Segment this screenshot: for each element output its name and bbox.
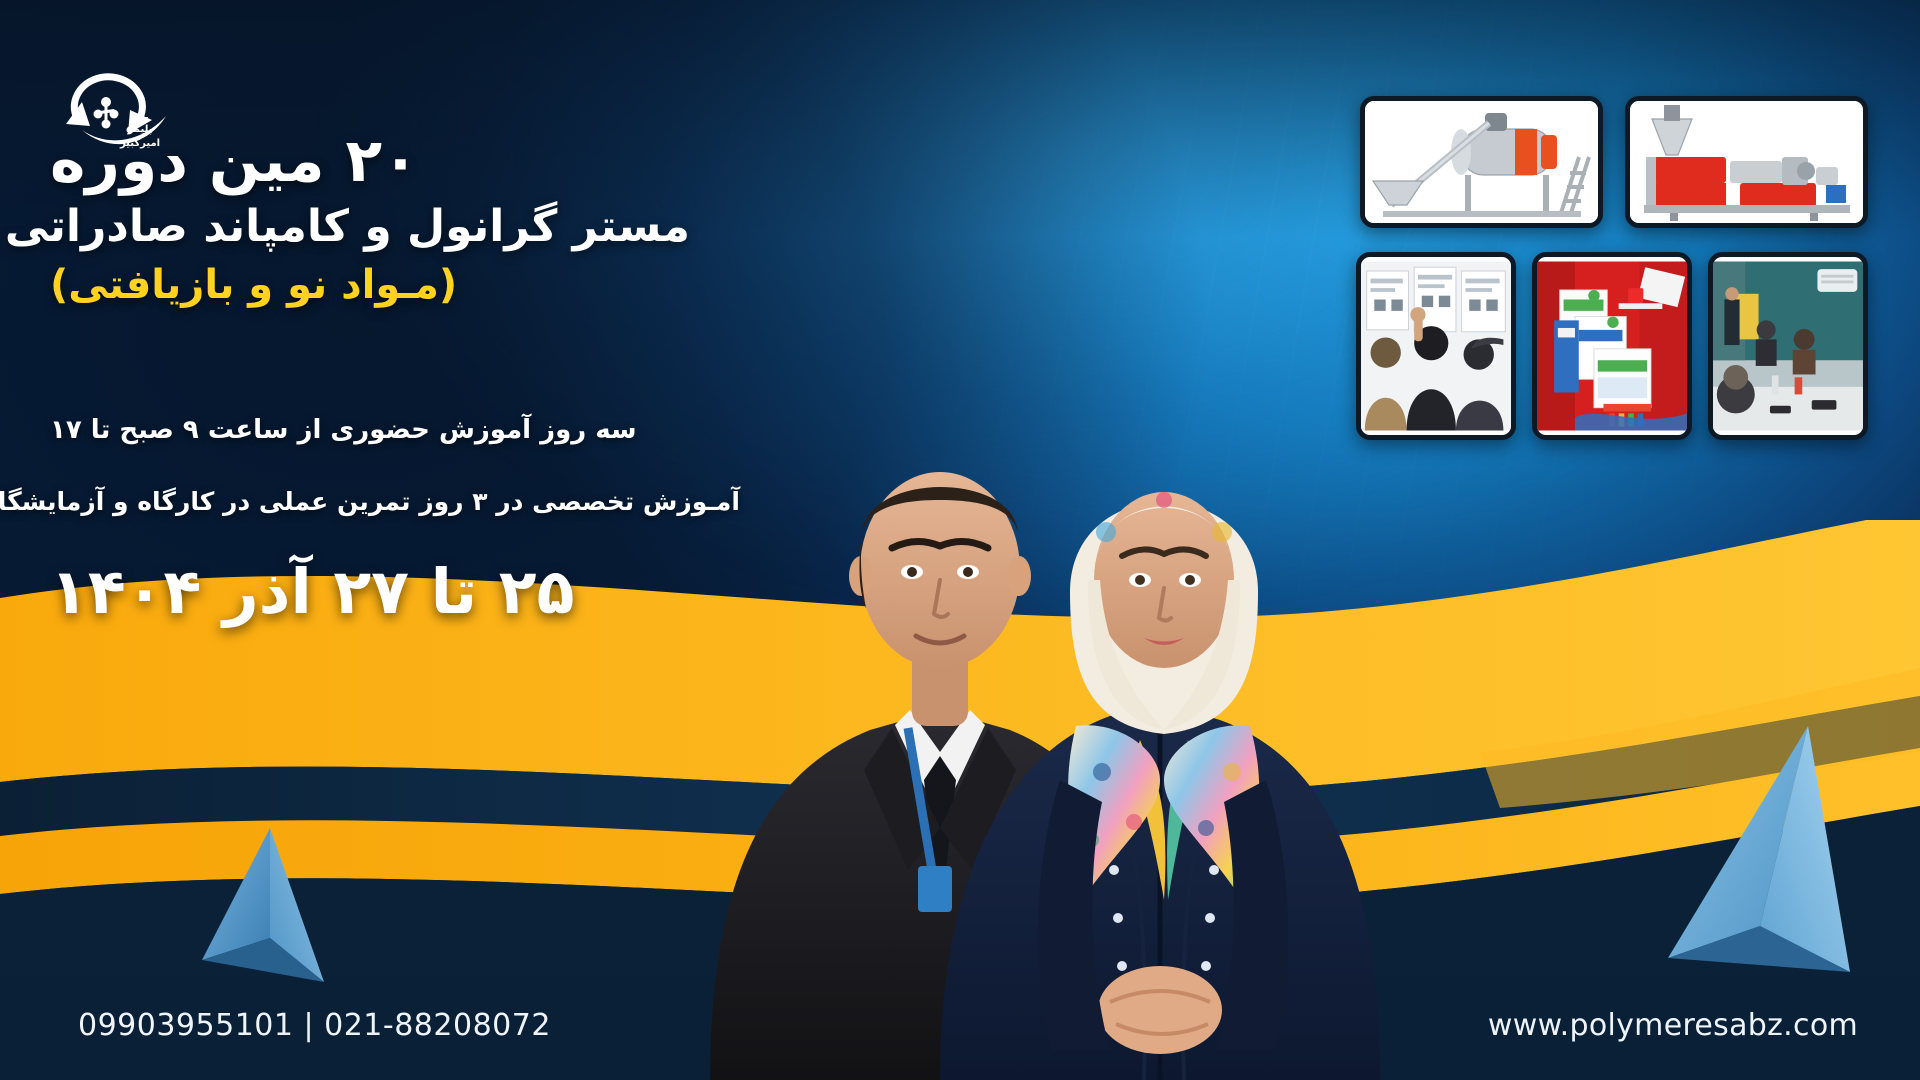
photo-extruder-granulator-line[interactable] <box>1625 96 1868 228</box>
headline-block: ۲۰ مین دوره مستر گرانول و کامپاند صادرات… <box>50 128 690 310</box>
headline-line-2: مستر گرانول و کامپاند صادراتی <box>50 199 690 254</box>
logo-text-line1: پویا <box>131 112 149 123</box>
headline-line-3: (مـواد نو و بازیافتی) <box>50 260 690 310</box>
photo-gallery <box>1356 96 1868 440</box>
website-url[interactable]: www.polymeresabz.com <box>1488 1008 1858 1043</box>
photo-exhibition-visitors[interactable] <box>1356 252 1516 440</box>
photo-brochures-display-stand[interactable] <box>1532 252 1692 440</box>
promotional-banner: پویا پلیمر امیرکبیر ۲۰ مین دوره مستر گرا… <box>0 0 1920 1080</box>
subtitle-schedule: سه روز آموزش حضوری از ساعت ۹ صبح تا ۱۷ <box>50 415 690 445</box>
gallery-row-top <box>1356 96 1868 228</box>
photo-classroom-training-session[interactable] <box>1708 252 1868 440</box>
photo-ribbon-mixer-machine[interactable] <box>1360 96 1603 228</box>
pyramid-decoration-left <box>178 820 338 990</box>
subtitle-training-details: آمـوزش تخصصی در ۳ روز تمرین عملی در کارگ… <box>50 487 740 516</box>
headline-line-1: ۲۰ مین دوره <box>50 128 690 195</box>
contact-phone-numbers[interactable]: 09903955101 | 021-88208072 <box>78 1008 551 1043</box>
gallery-row-bottom <box>1356 252 1868 440</box>
pyramid-decoration-right <box>1640 720 1860 980</box>
event-date: ۲۵ تا ۲۷ آذر ۱۴۰۴ <box>50 555 650 628</box>
